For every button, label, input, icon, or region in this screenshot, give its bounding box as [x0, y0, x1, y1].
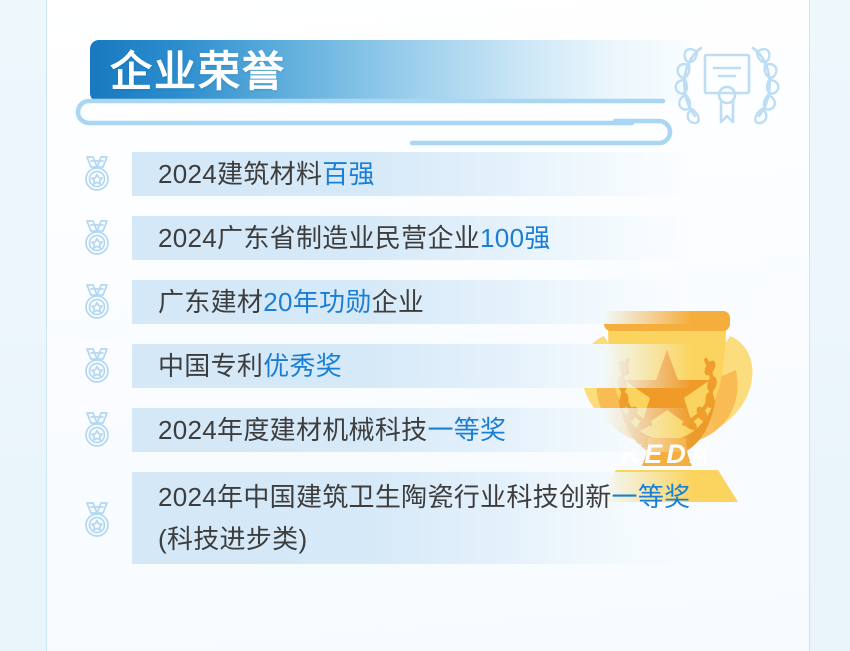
honor-text-line: 广东建材20年功勋企业: [158, 281, 424, 323]
medal-icon: [80, 501, 114, 539]
medal-icon: [80, 283, 114, 321]
honor-text-plain: 中国专利: [158, 351, 263, 381]
honor-text-line: (科技进步类): [158, 518, 690, 560]
honor-text-line: 中国专利优秀奖: [158, 345, 342, 387]
honor-text-plain: (科技进步类): [158, 524, 307, 554]
honor-list: 2024建筑材料百强 2024广东省制造业民营企业100强 广东建材20年功勋企…: [47, 152, 809, 584]
medal-icon: [80, 411, 114, 449]
medal-icon: [80, 283, 114, 321]
laurel-certificate-icon: [667, 32, 787, 136]
honor-text-plain: 企业: [372, 287, 425, 317]
medal-icon: [80, 347, 114, 385]
page-header: 企业荣誉: [47, 0, 809, 150]
honor-row[interactable]: 中国专利优秀奖: [47, 344, 809, 388]
content-canvas: 企业荣誉: [47, 0, 809, 651]
honor-text: 广东建材20年功勋企业: [158, 280, 424, 324]
medal-icon: [80, 219, 114, 257]
honor-row[interactable]: 2024广东省制造业民营企业100强: [47, 216, 809, 260]
honor-text: 中国专利优秀奖: [158, 344, 342, 388]
honor-text: 2024广东省制造业民营企业100强: [158, 216, 551, 260]
honor-text-line: 2024建筑材料百强: [158, 153, 375, 195]
honor-text-line: 2024年度建材机械科技一等奖: [158, 409, 506, 451]
medal-icon: [80, 219, 114, 257]
honor-text-highlight: 100强: [480, 223, 551, 253]
medal-icon: [80, 155, 114, 193]
honor-text-highlight: 20年功勋: [263, 287, 371, 317]
honor-text-highlight: 优秀奖: [263, 351, 342, 381]
right-divider-line: [809, 0, 810, 651]
honor-text-highlight: 一等奖: [612, 482, 691, 512]
medal-icon: [80, 347, 114, 385]
honor-text: 2024年中国建筑卫生陶瓷行业科技创新一等奖(科技进步类): [158, 472, 690, 564]
honor-text: 2024建筑材料百强: [158, 152, 375, 196]
honor-text-highlight: 一等奖: [427, 415, 506, 445]
medal-icon: [80, 155, 114, 193]
decorative-underline-icon: [67, 95, 687, 147]
honor-row[interactable]: 2024年中国建筑卫生陶瓷行业科技创新一等奖(科技进步类): [47, 472, 809, 564]
honor-text-plain: 2024年度建材机械科技: [158, 415, 427, 445]
honor-page: 企业荣誉: [0, 0, 850, 651]
honor-text-line: 2024广东省制造业民营企业100强: [158, 217, 551, 259]
honor-text-plain: 广东建材: [158, 287, 263, 317]
honor-text-line: 2024年中国建筑卫生陶瓷行业科技创新一等奖: [158, 476, 690, 518]
honor-text-highlight: 百强: [322, 159, 375, 189]
page-title: 企业荣誉: [110, 46, 286, 98]
honor-row[interactable]: 广东建材20年功勋企业: [47, 280, 809, 324]
medal-icon: [80, 411, 114, 449]
medal-icon: [80, 501, 114, 539]
right-margin-column: [810, 0, 850, 651]
honor-text-plain: 2024建筑材料: [158, 159, 322, 189]
honor-row[interactable]: 2024年度建材机械科技一等奖: [47, 408, 809, 452]
honor-text-plain: 2024年中国建筑卫生陶瓷行业科技创新: [158, 482, 612, 512]
honor-row[interactable]: 2024建筑材料百强: [47, 152, 809, 196]
honor-text-plain: 2024广东省制造业民营企业: [158, 223, 480, 253]
honor-text: 2024年度建材机械科技一等奖: [158, 408, 506, 452]
left-margin-column: [0, 0, 46, 651]
